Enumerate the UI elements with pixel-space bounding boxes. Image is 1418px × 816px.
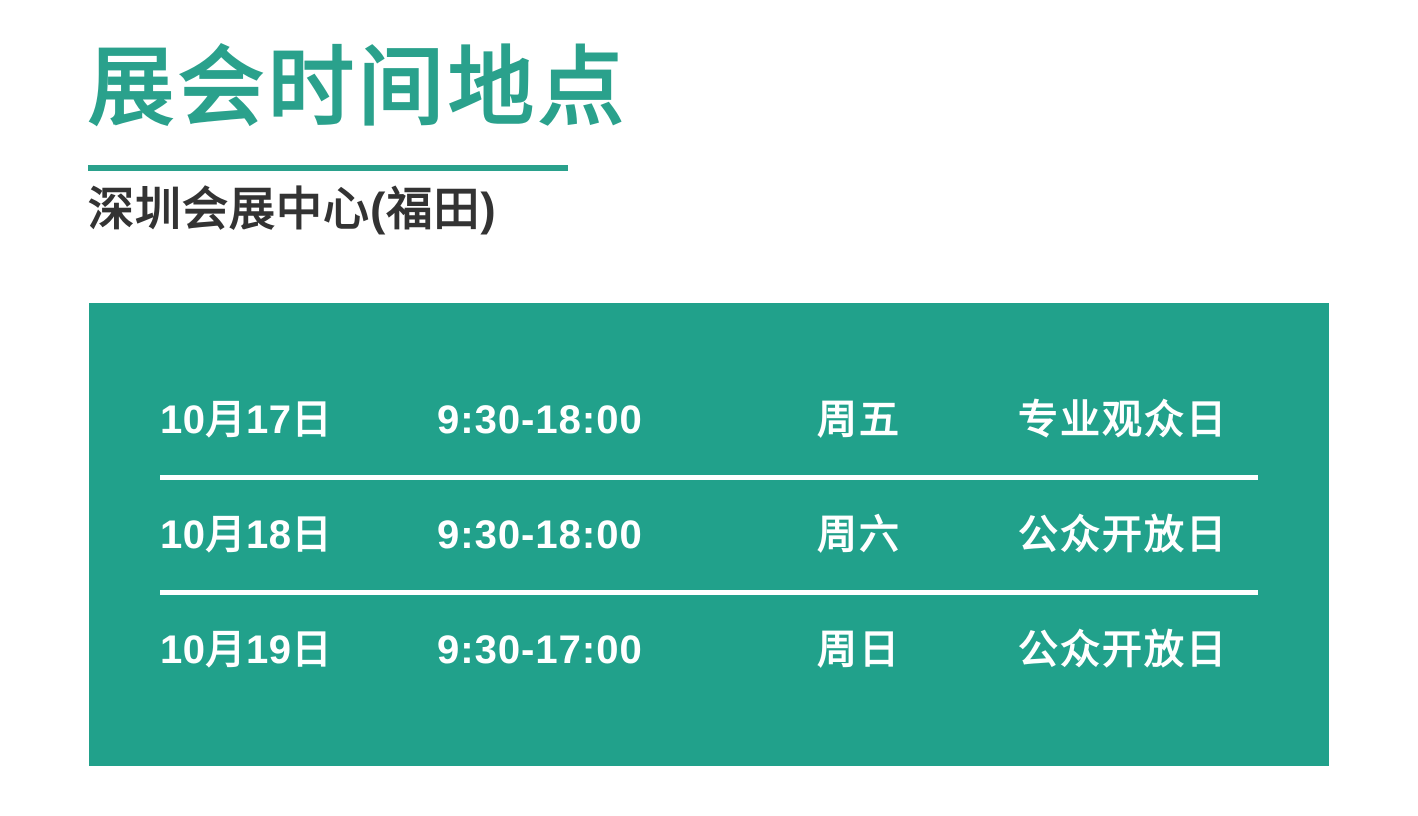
cell-time: 9:30-17:00 — [437, 630, 817, 670]
cell-time: 9:30-18:00 — [437, 400, 817, 440]
schedule-table: 10月17日 9:30-18:00 周五 专业观众日 10月18日 9:30-1… — [160, 365, 1258, 705]
page-title: 展会时间地点 — [88, 42, 1330, 135]
schedule-panel: 10月17日 9:30-18:00 周五 专业观众日 10月18日 9:30-1… — [89, 303, 1329, 766]
cell-date: 10月18日 — [160, 515, 437, 555]
cell-weekday: 周日 — [817, 630, 1018, 670]
cell-weekday: 周五 — [817, 400, 1018, 440]
title-divider — [88, 165, 568, 171]
table-row: 10月18日 9:30-18:00 周六 公众开放日 — [160, 480, 1258, 590]
exhibition-schedule-poster: 展会时间地点 深圳会展中心(福田) 10月17日 9:30-18:00 周五 专… — [0, 0, 1418, 816]
cell-day-type: 公众开放日 — [1018, 630, 1258, 670]
cell-date: 10月19日 — [160, 630, 437, 670]
header: 展会时间地点 深圳会展中心(福田) — [88, 42, 1330, 236]
cell-day-type: 公众开放日 — [1018, 515, 1258, 555]
table-row: 10月17日 9:30-18:00 周五 专业观众日 — [160, 365, 1258, 475]
cell-day-type: 专业观众日 — [1018, 400, 1258, 440]
cell-weekday: 周六 — [817, 515, 1018, 555]
venue-name: 深圳会展中心(福田) — [88, 183, 1330, 236]
cell-time: 9:30-18:00 — [437, 515, 817, 555]
cell-date: 10月17日 — [160, 400, 437, 440]
table-row: 10月19日 9:30-17:00 周日 公众开放日 — [160, 595, 1258, 705]
